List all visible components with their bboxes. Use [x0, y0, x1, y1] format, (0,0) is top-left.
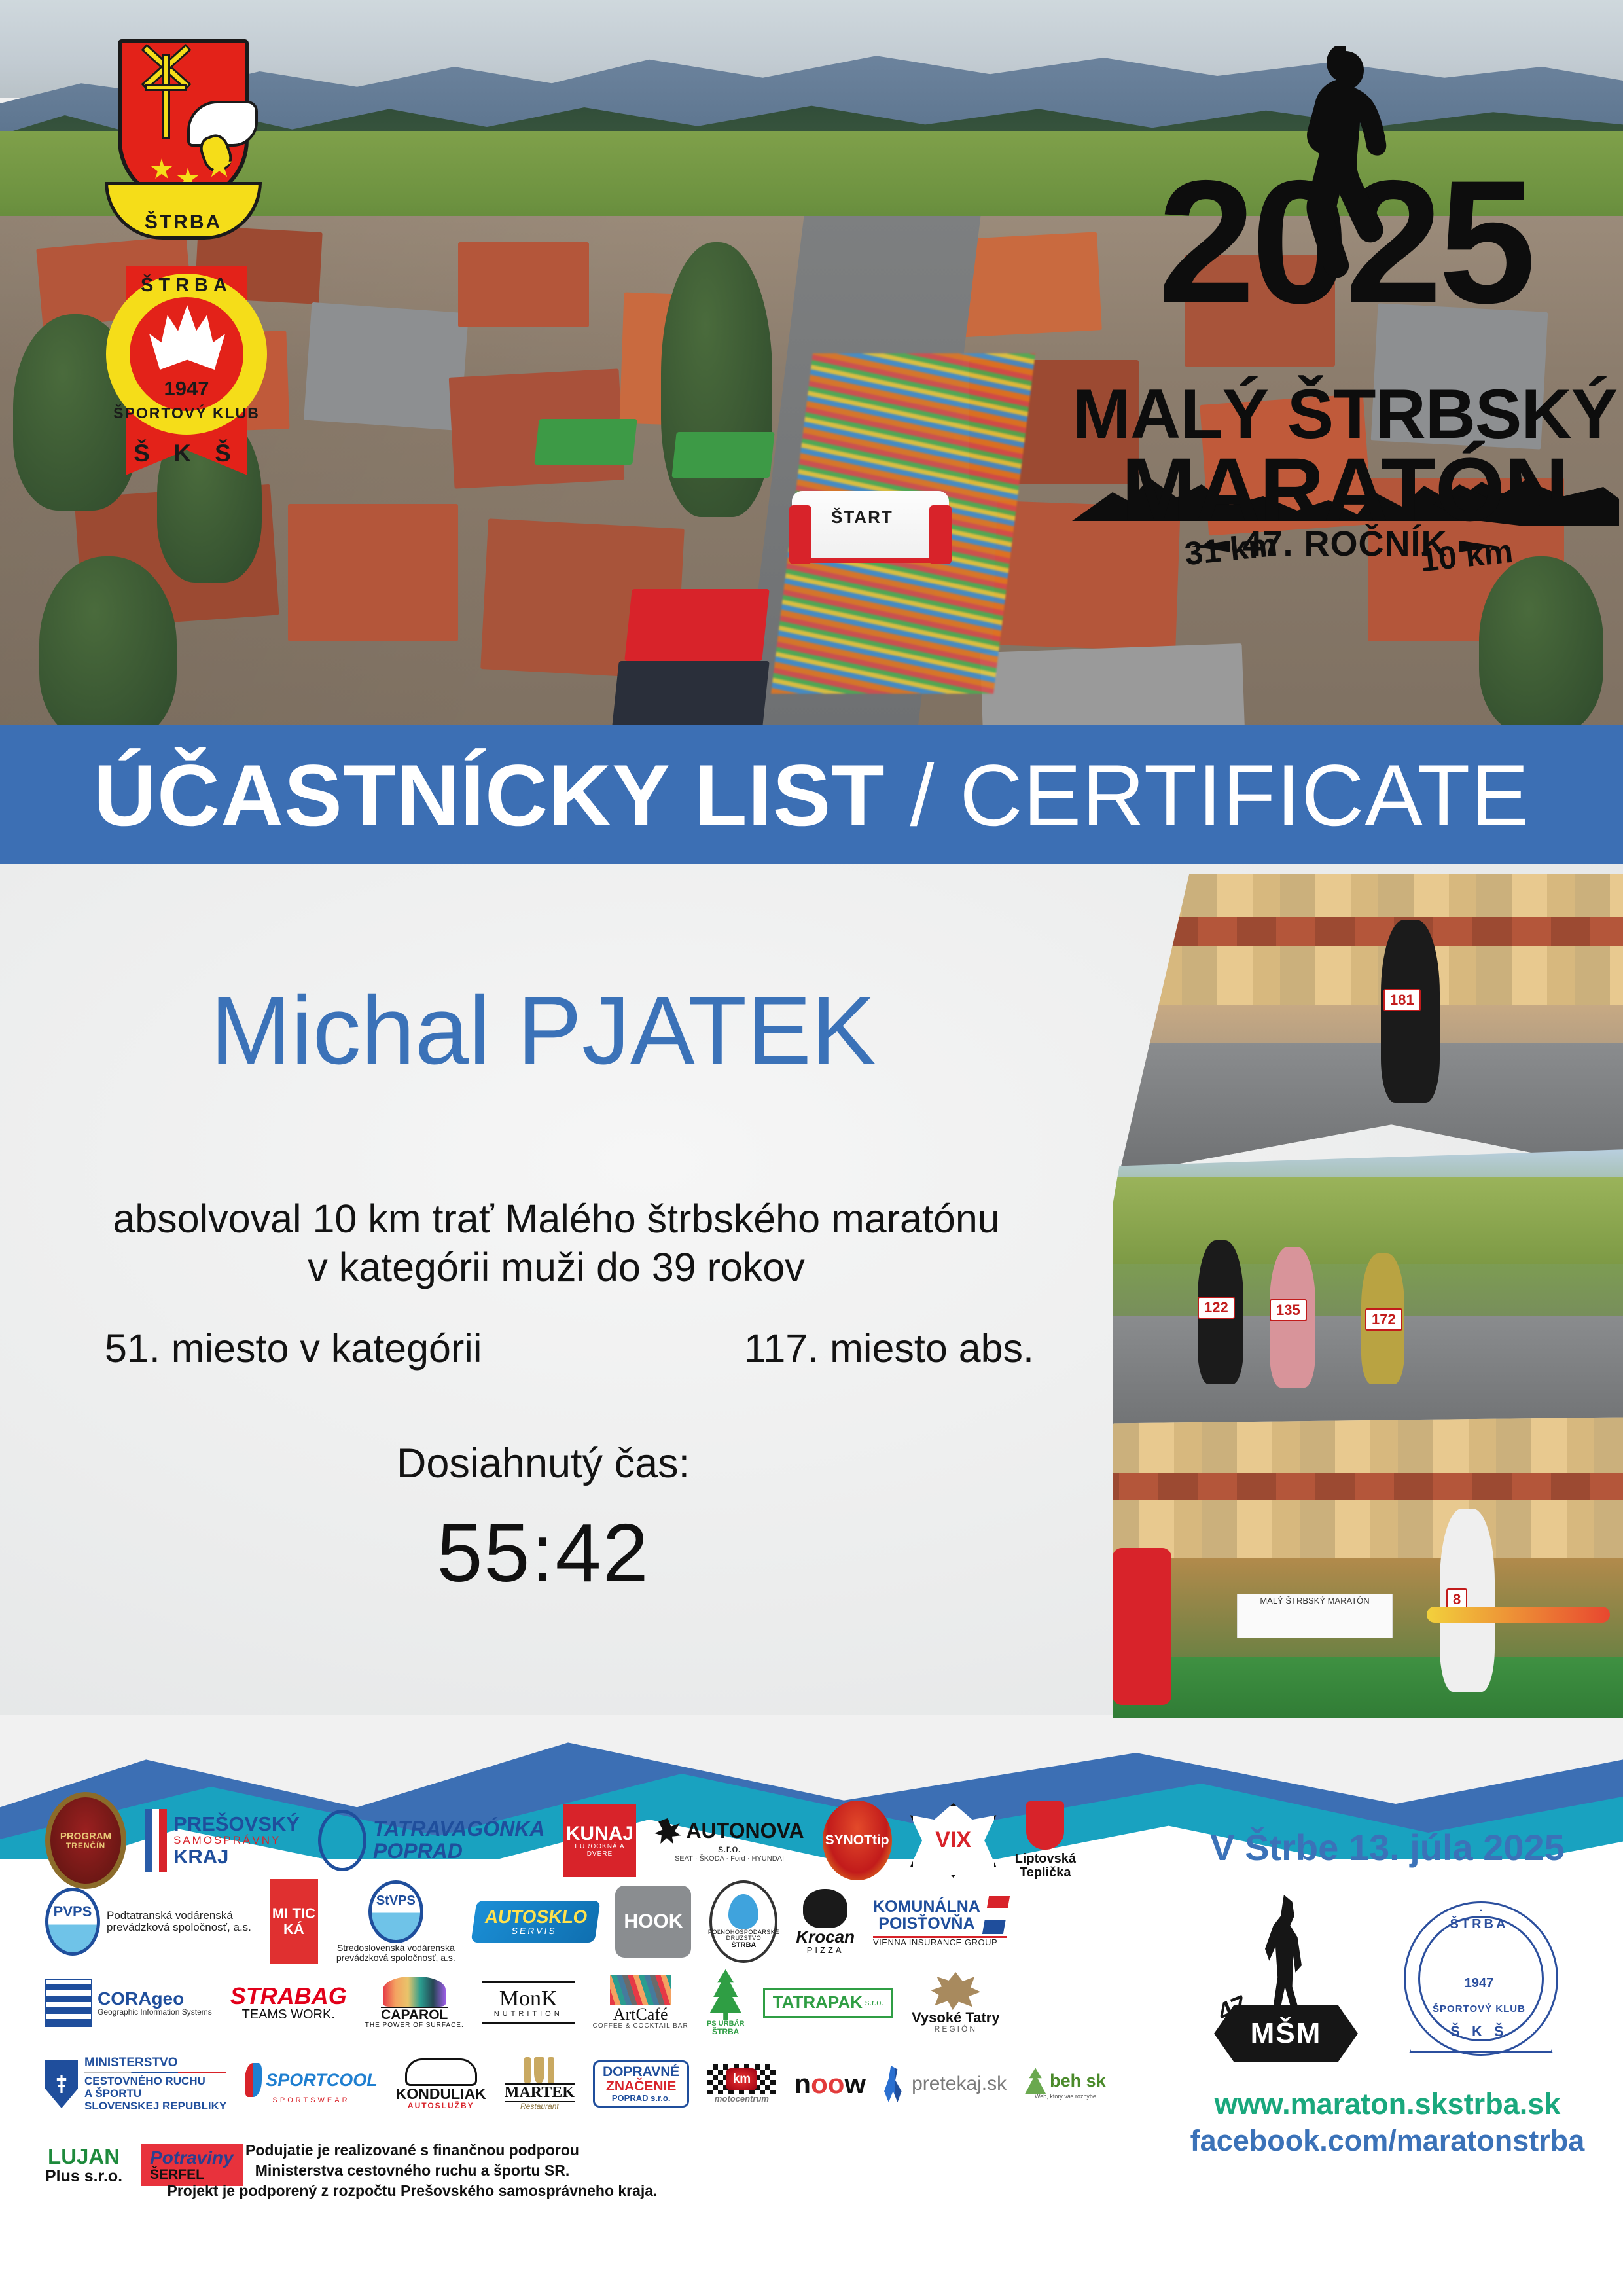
photo-finish-female-runner: 181	[1119, 874, 1623, 1175]
photo-finish-line-winner: MALÝ ŠTRBSKÝ MARATÓN 8	[1113, 1417, 1623, 1718]
arrow-left-icon	[1191, 541, 1230, 552]
crest-label: ŠTRBA	[145, 211, 222, 234]
sponsor-logo: KUNAJEUROOKNÁ A DVERE	[563, 1804, 636, 1877]
emblem-year: 1947	[98, 377, 275, 401]
support-line1: Podujatie je realizované s finančnou pod…	[39, 2140, 785, 2161]
finish-mat	[1113, 1657, 1623, 1718]
sponsor-logo: PVPSPodtatranská vodárenskáprevádzková s…	[45, 1885, 251, 1958]
sponsor-logo: beh skWeb, ktorý vás rozhýbe	[1025, 2047, 1106, 2121]
sponsor-logo: StVPSStredoslovenská vodárenskáprevádzko…	[336, 1885, 455, 1958]
sponsor-logo: AUTOSKLOSERVIS	[474, 1885, 597, 1958]
arrow-right-icon	[1459, 541, 1499, 552]
finish-ribbon	[1427, 1607, 1610, 1623]
sponsor-logo: AUTONOVAs.r.o.SEAT · ŠKODA · Ford · HYUN…	[654, 1804, 804, 1877]
marathon-logo: 2025 31 km 10 km MALÝ ŠTRBSKÝ MARATÓN 47…	[1067, 33, 1623, 609]
sponsor-logo: HOOK	[615, 1885, 691, 1958]
participant-name: Michal PJATEK	[0, 975, 1086, 1086]
sponsor-logo: CAPAROLTHE POWER OF SURFACE.	[365, 1966, 464, 2039]
star-icon	[151, 158, 173, 181]
placement-row: 51. miesto v kategórii 117. miesto abs.	[0, 1325, 1139, 1371]
achievement-description: absolvoval 10 km trať Malého štrbského m…	[0, 1194, 1113, 1292]
sponsor-logo: MINISTERSTVOCESTOVNÉHO RUCHUA ŠPORTUSLOV…	[45, 2047, 226, 2121]
place-absolute: 117. miesto abs.	[744, 1325, 1034, 1371]
photo-hillside-runners: 122 135 172	[1113, 1149, 1623, 1437]
sponsor-logo: TATRAPAKs.r.o.	[763, 1966, 893, 2039]
sponsor-logo: KOMUNÁLNAPOISŤOVŇAVIENNA INSURANCE GROUP	[873, 1885, 1007, 1958]
cross-bar-icon	[145, 84, 187, 91]
roof	[288, 504, 458, 641]
stamp-year: 1947	[1397, 1976, 1561, 1991]
emblem-bottom-text: ŠPORTOVÝ KLUB	[98, 404, 275, 422]
stamp-abbr: Š K Š	[1397, 2023, 1561, 2040]
marathon-edition: 47. ROČNÍK	[1242, 524, 1447, 564]
tent-green	[534, 419, 637, 465]
certificate-title-band: ÚČASTNÍCKY LIST / CERTIFICATE	[0, 725, 1623, 866]
time-label: Dosiahnutý čas:	[0, 1440, 1086, 1487]
sponsor-logo: MonKNUTRITION	[482, 1966, 575, 2039]
tent-dark	[611, 661, 770, 733]
tree	[39, 556, 177, 733]
roof-line	[1113, 1473, 1623, 1500]
sponsor-logo: STRABAGTEAMS WORK.	[230, 1966, 347, 2039]
sponsor-logo: LiptovskáTeplička	[1015, 1804, 1076, 1877]
msm-logo: 47. MŠM	[1214, 1895, 1358, 2065]
staff-icon	[162, 54, 170, 139]
runner-figure	[1381, 920, 1440, 1103]
sponsor-logo: CORAgeoGeographic Information Systems	[45, 1966, 212, 2039]
sponsor-logo: KrocanPIZZA	[796, 1885, 855, 1958]
finish-banner: MALÝ ŠTRBSKÝ MARATÓN	[1237, 1594, 1393, 1638]
sponsor-logo: POĽNOHOSPODÁRSKE DRUŽSTVOŠTRBA	[709, 1885, 777, 1958]
sponsor-logo: MARTEKRestaurant	[505, 2047, 575, 2121]
sponsor-logo: PREŠOVSKÝSAMOSPRÁVNYKRAJ	[145, 1804, 300, 1877]
title-rest: / CERTIFICATE	[885, 747, 1529, 844]
start-arch-label: ŠTART	[831, 507, 893, 528]
folk-costume-figure	[1113, 1548, 1171, 1705]
sponsor-logo: PS URBÁRŠTRBA	[707, 1966, 745, 2039]
bib-number: 135	[1270, 1299, 1307, 1321]
roof	[980, 643, 1245, 733]
sponsor-logo: kmmotocentrum	[707, 2047, 776, 2121]
contact-links: www.maraton.skstrba.sk facebook.com/mara…	[1158, 2087, 1616, 2158]
sports-club-emblem: ŠTRBA 1947 ŠPORTOVÝ KLUB Š K Š	[98, 262, 275, 478]
bib-number: 181	[1383, 989, 1421, 1011]
sponsor-logo: DOPRAVNÉZNAČENIEPOPRAD s.r.o.	[593, 2047, 689, 2121]
time-value: 55:42	[0, 1505, 1086, 1600]
footer-right-column: V Štrbe 13. júla 2025 47. MŠM ŠTRBA 1947…	[1158, 1826, 1616, 2158]
tent-red	[624, 589, 770, 661]
certificate-page: ŠTART ŠTRBA ŠTRBA 1947 ŠPORTOVÝ KLUB	[0, 0, 1623, 2296]
crest-ribbon: ŠTRBA	[105, 182, 262, 240]
grass-band	[1113, 1177, 1623, 1264]
support-line2: Ministerstva cestovného ruchu a športu S…	[39, 2161, 785, 2181]
sponsor-logo: noow	[794, 2047, 866, 2121]
sponsor-logo: pretekaj.sk	[884, 2047, 1007, 2121]
bib-number: 122	[1198, 1297, 1235, 1319]
photo-collage: 181 122 135 172 MALÝ ŠTRBSKÝ MARATÓN 8	[1113, 874, 1623, 1718]
sponsor-logo: KONDULIAKAUTOSLUŽBY	[396, 2047, 486, 2121]
footer-stamps: 47. MŠM ŠTRBA 1947 ŠPORTOVÝ KLUB Š K Š	[1158, 1895, 1616, 2065]
sponsor-logo: TATRAVAGÓNKAPOPRAD	[318, 1804, 544, 1877]
sponsor-logo: SPORTCOOLSPORTSWEAR	[245, 2047, 378, 2121]
facebook-link[interactable]: facebook.com/maratonstrba	[1158, 2124, 1616, 2158]
sponsor-logo: VIX	[910, 1804, 997, 1877]
emblem-top-text: ŠTRBA	[98, 262, 275, 340]
bib-number: 172	[1365, 1308, 1402, 1331]
stamp-top-text: ŠTRBA	[1397, 1917, 1561, 1932]
sponsor-logo: SYNOTtip	[823, 1804, 892, 1877]
title-bold: ÚČASTNÍCKY LIST	[94, 747, 885, 844]
stamp-bottom-text: ŠPORTOVÝ KLUB	[1397, 2003, 1561, 2015]
emblem-abbr: Š K Š	[98, 440, 275, 467]
sponsor-logo: PROGRAMTRENČÍN	[45, 1804, 126, 1877]
page-title: ÚČASTNÍCKY LIST / CERTIFICATE	[94, 746, 1529, 846]
runner-icon	[1260, 1895, 1312, 2013]
sponsor-logo: MI TIC KÁ	[270, 1885, 318, 1958]
footer: PROGRAMTRENČÍN PREŠOVSKÝSAMOSPRÁVNYKRAJ …	[0, 1859, 1623, 2296]
runner-silhouette-icon	[1283, 46, 1407, 432]
roof	[304, 302, 469, 431]
club-stamp: ŠTRBA 1947 ŠPORTOVÝ KLUB Š K Š	[1397, 1895, 1561, 2065]
description-line2: v kategórii muži do 39 rokov	[0, 1243, 1113, 1291]
support-line3: Projekt je podporený z rozpočtu Prešovsk…	[39, 2181, 785, 2201]
place-category: 51. miesto v kategórii	[105, 1325, 482, 1371]
roof-line	[1119, 917, 1623, 945]
sponsor-logo: ArtCaféCOFFEE & COCKTAIL BAR	[593, 1966, 688, 2039]
support-statement: Podujatie je realizované s finančnou pod…	[39, 2140, 785, 2201]
website-link[interactable]: www.maraton.skstrba.sk	[1158, 2087, 1616, 2121]
description-line1: absolvoval 10 km trať Malého štrbského m…	[0, 1194, 1113, 1243]
msm-abbr: MŠM	[1214, 2005, 1358, 2062]
roof	[458, 242, 589, 327]
strba-coat-of-arms: ŠTRBA	[105, 33, 262, 249]
sponsor-logo: Vysoké TatryREGIÓN	[912, 1966, 1000, 2039]
event-date: V Štrbe 13. júla 2025	[1158, 1826, 1616, 1869]
tent-green	[671, 432, 774, 478]
marathon-edition-row: 47. ROČNÍK	[1067, 524, 1623, 564]
shield	[118, 39, 249, 203]
